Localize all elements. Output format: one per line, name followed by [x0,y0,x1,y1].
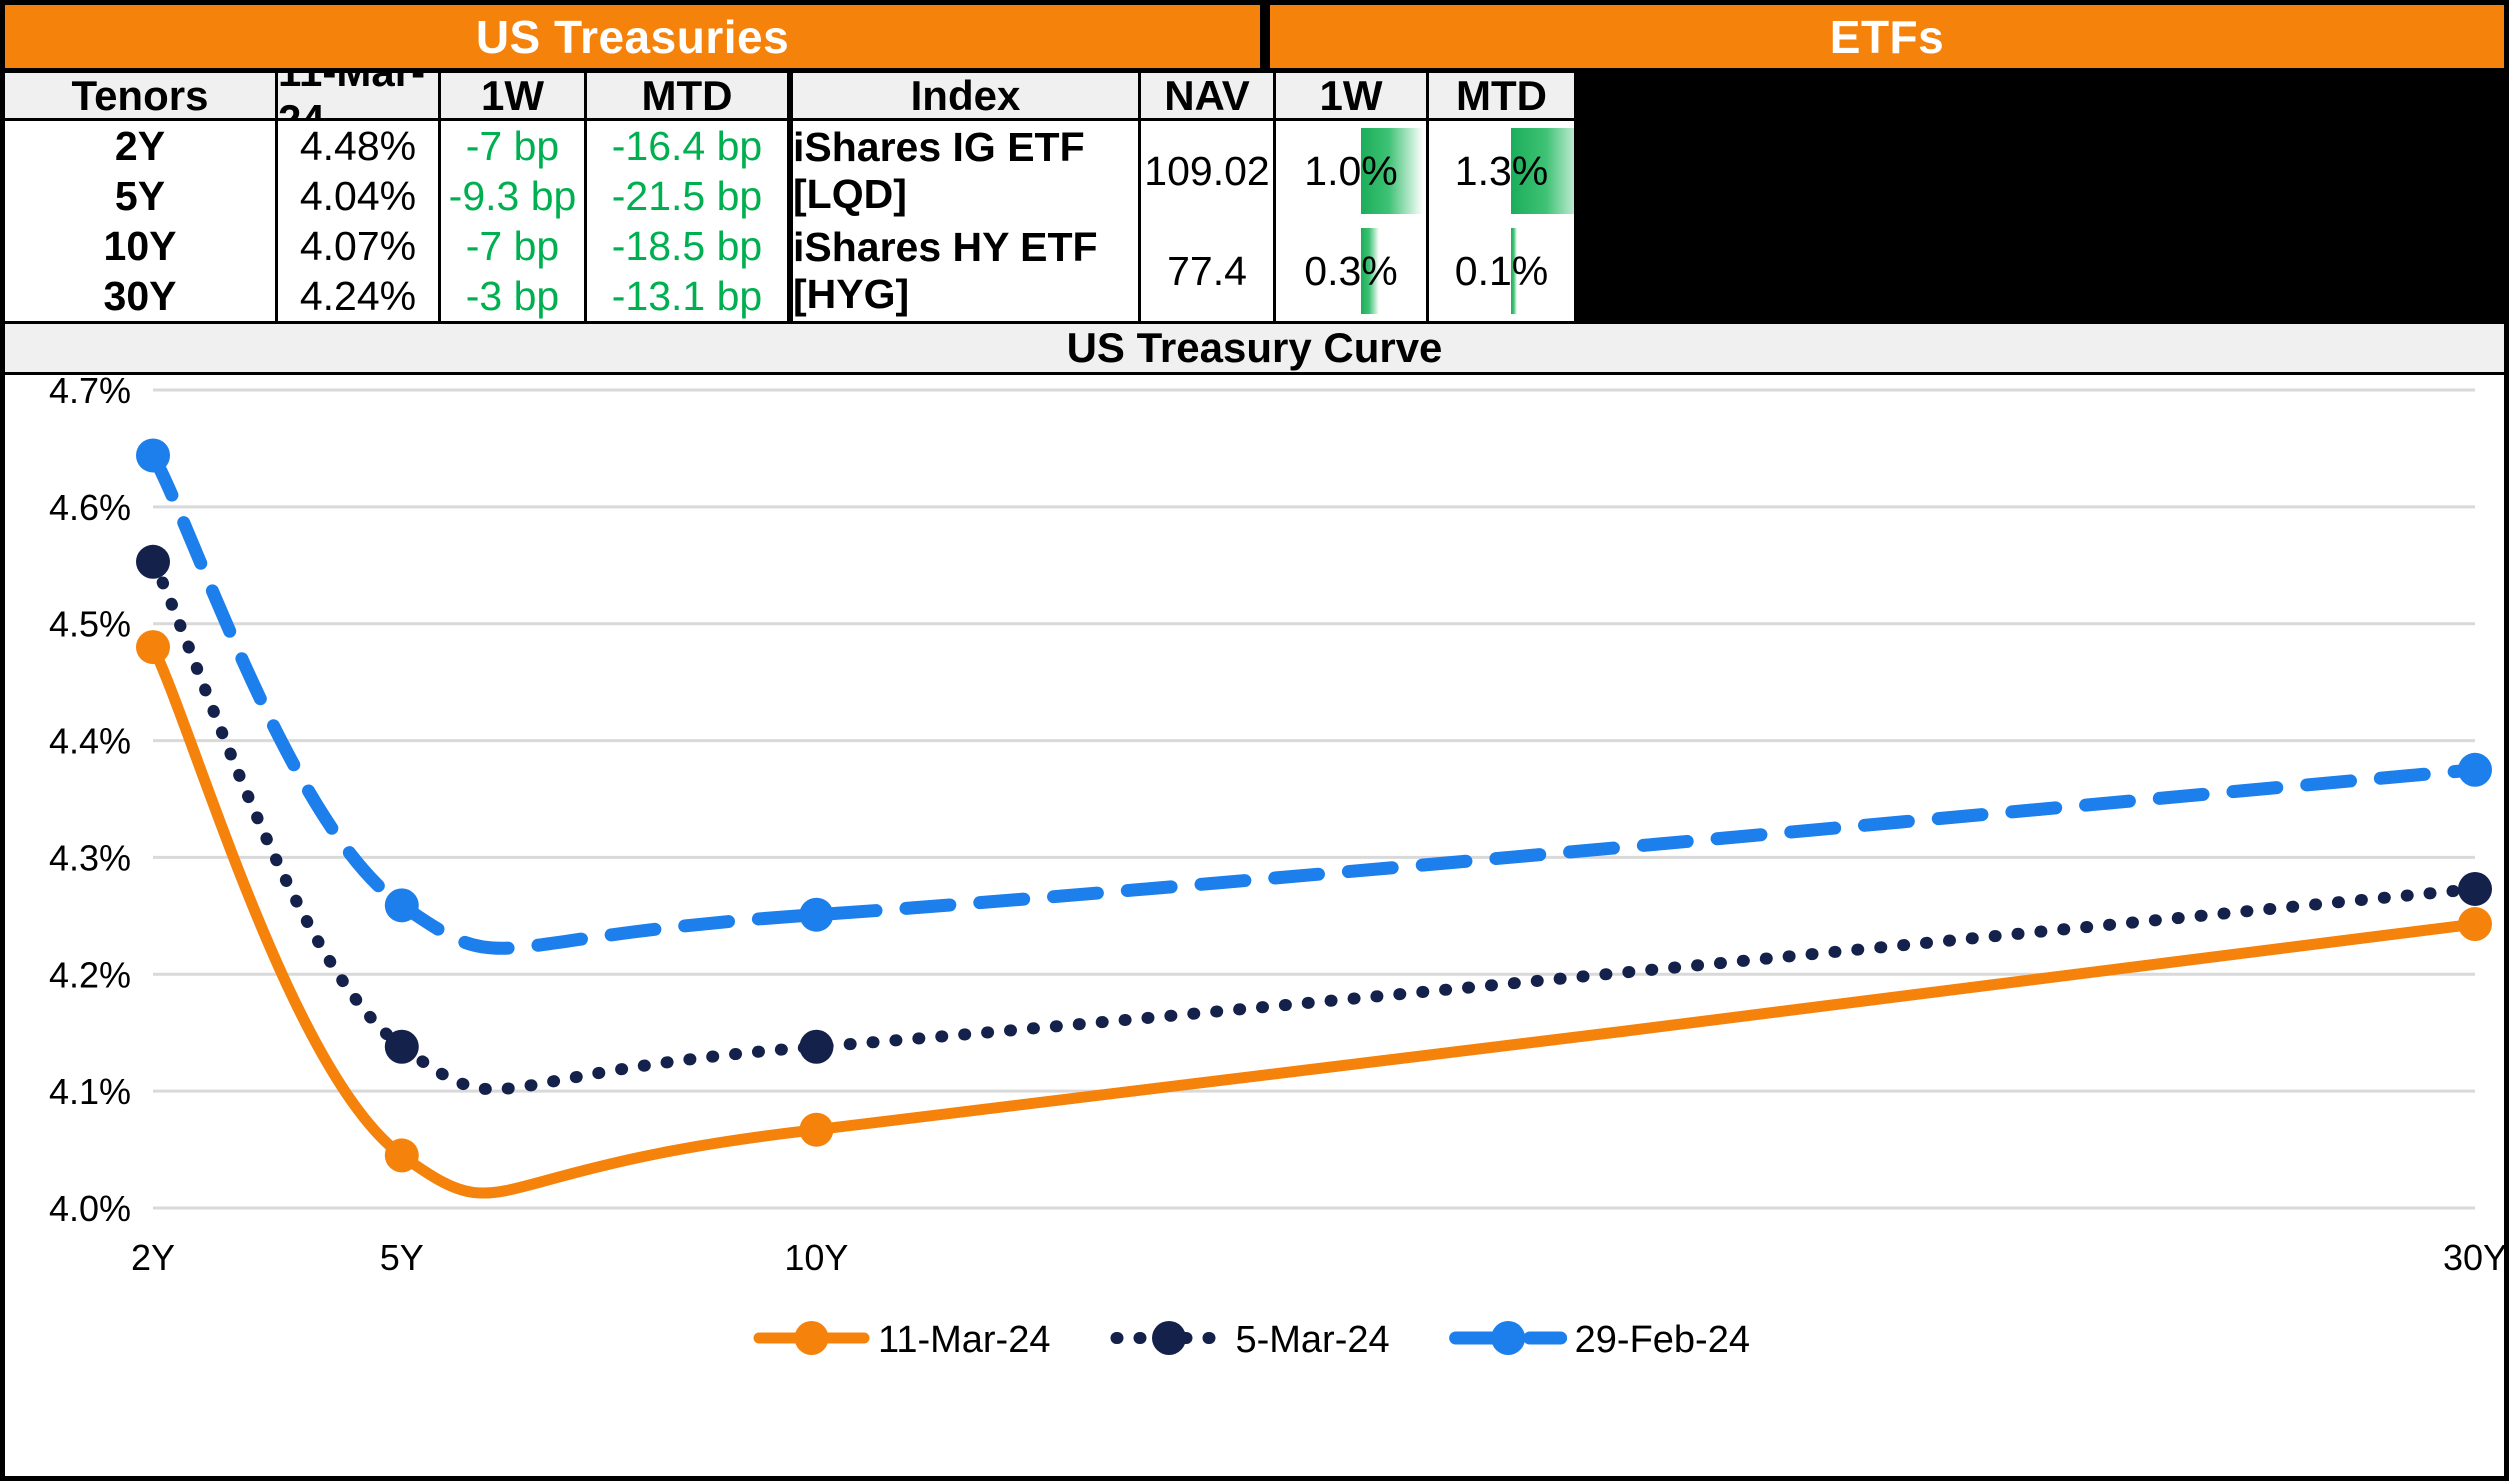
legend-marker-1 [795,1321,829,1355]
table-row-mtd: -16.4 bp [587,121,787,171]
list-item-etf-1w: 1.0% [1276,121,1426,221]
y-axis-tick-label: 4.3% [49,837,131,878]
list-item-etf-name: iShares HY ETF [HYG] [793,221,1138,321]
y-axis-tick-label: 4.2% [49,954,131,995]
data-point-marker [136,630,170,664]
dashboard-root: US Treasuries ETFs Tenors 11-Mar-24 1W M… [0,0,2509,1481]
series-line-2 [153,562,2475,1089]
y-axis-tick-label: 4.4% [49,721,131,762]
col-header-tenors: Tenors [5,73,275,118]
data-point-marker [136,545,170,579]
col-header-etf-nav: NAV [1141,73,1273,118]
list-item-etf-mtd-databar: 1.3% [1429,121,1574,221]
data-point-marker [385,1030,419,1064]
section-header-us-treasuries: US Treasuries [5,5,1260,68]
table-row-mtd: -21.5 bp [587,171,787,221]
col-header-treasury-mtd: MTD [587,73,787,118]
list-item-etf-nav: 109.02 [1141,121,1273,221]
table-row-mtd: -18.5 bp [587,221,787,271]
list-item-etf-mtd: 0.1% [1429,221,1574,321]
y-axis-tick-label: 4.7% [49,375,131,411]
y-axis-tick-label: 4.5% [49,604,131,645]
x-axis-tick-label: 5Y [380,1237,424,1278]
x-axis-tick-label: 30Y [2443,1237,2504,1278]
table-row-level: 4.24% [278,271,438,321]
table-row-mtd: -13.1 bp [587,271,787,321]
list-item-etf-mtd: 1.3% [1429,121,1574,221]
table-row-tenor: 2Y [5,121,275,171]
table-row-1w: -7 bp [441,121,584,171]
y-axis-tick-label: 4.0% [49,1188,131,1229]
data-point-marker [799,1030,833,1064]
series-line-1 [153,647,2475,1193]
list-item-etf-1w-databar: 1.0% [1276,121,1426,221]
x-axis-tick-label: 2Y [131,1237,175,1278]
legend-label-2: 5-Mar-24 [1235,1319,1389,1361]
y-axis-tick-label: 4.1% [49,1071,131,1112]
list-item-etf-1w: 0.3% [1276,221,1426,321]
data-point-marker [799,1113,833,1147]
legend-marker-2 [1152,1321,1186,1355]
y-axis-tick-label: 4.6% [49,487,131,528]
data-point-marker [799,898,833,932]
table-row-tenor: 30Y [5,271,275,321]
table-row-1w: -7 bp [441,221,584,271]
list-item-etf-mtd-databar: 0.1% [1429,221,1574,321]
list-item-etf-name: iShares IG ETF [LQD] [793,121,1138,221]
table-row-tenor: 5Y [5,171,275,221]
data-point-marker [2458,753,2492,787]
table-row-level: 4.48% [278,121,438,171]
data-point-marker [385,888,419,922]
col-header-etf-index: Index [793,73,1138,118]
table-row-level: 4.04% [278,171,438,221]
x-axis-tick-label: 10Y [784,1237,848,1278]
data-point-marker [385,1138,419,1172]
chart-svg: 4.0%4.1%4.2%4.3%4.4%4.5%4.6%4.7%2Y5Y10Y3… [5,375,2504,1476]
col-header-etf-1w: 1W [1276,73,1426,118]
table-row-1w: -3 bp [441,271,584,321]
series-line-3 [153,455,2475,948]
data-point-marker [2458,872,2492,906]
legend-label-3: 29-Feb-24 [1575,1319,1750,1361]
section-header-etfs: ETFs [1270,5,2504,68]
data-point-marker [2458,907,2492,941]
table-row-1w: -9.3 bp [441,171,584,221]
table-row-level: 4.07% [278,221,438,271]
table-row-tenor: 10Y [5,221,275,271]
list-item-etf-1w-databar: 0.3% [1276,221,1426,321]
data-point-marker [136,438,170,472]
legend-label-1: 11-Mar-24 [878,1319,1050,1361]
col-header-etf-mtd: MTD [1429,73,1574,118]
col-header-treasury-1w: 1W [441,73,584,118]
list-item-etf-nav: 77.4 [1141,221,1273,321]
us-treasury-curve-chart: 4.0%4.1%4.2%4.3%4.4%4.5%4.6%4.7%2Y5Y10Y3… [5,375,2504,1476]
col-header-treasury-date: 11-Mar-24 [278,73,438,118]
chart-title: US Treasury Curve [5,324,2504,372]
legend-marker-3 [1491,1321,1525,1355]
